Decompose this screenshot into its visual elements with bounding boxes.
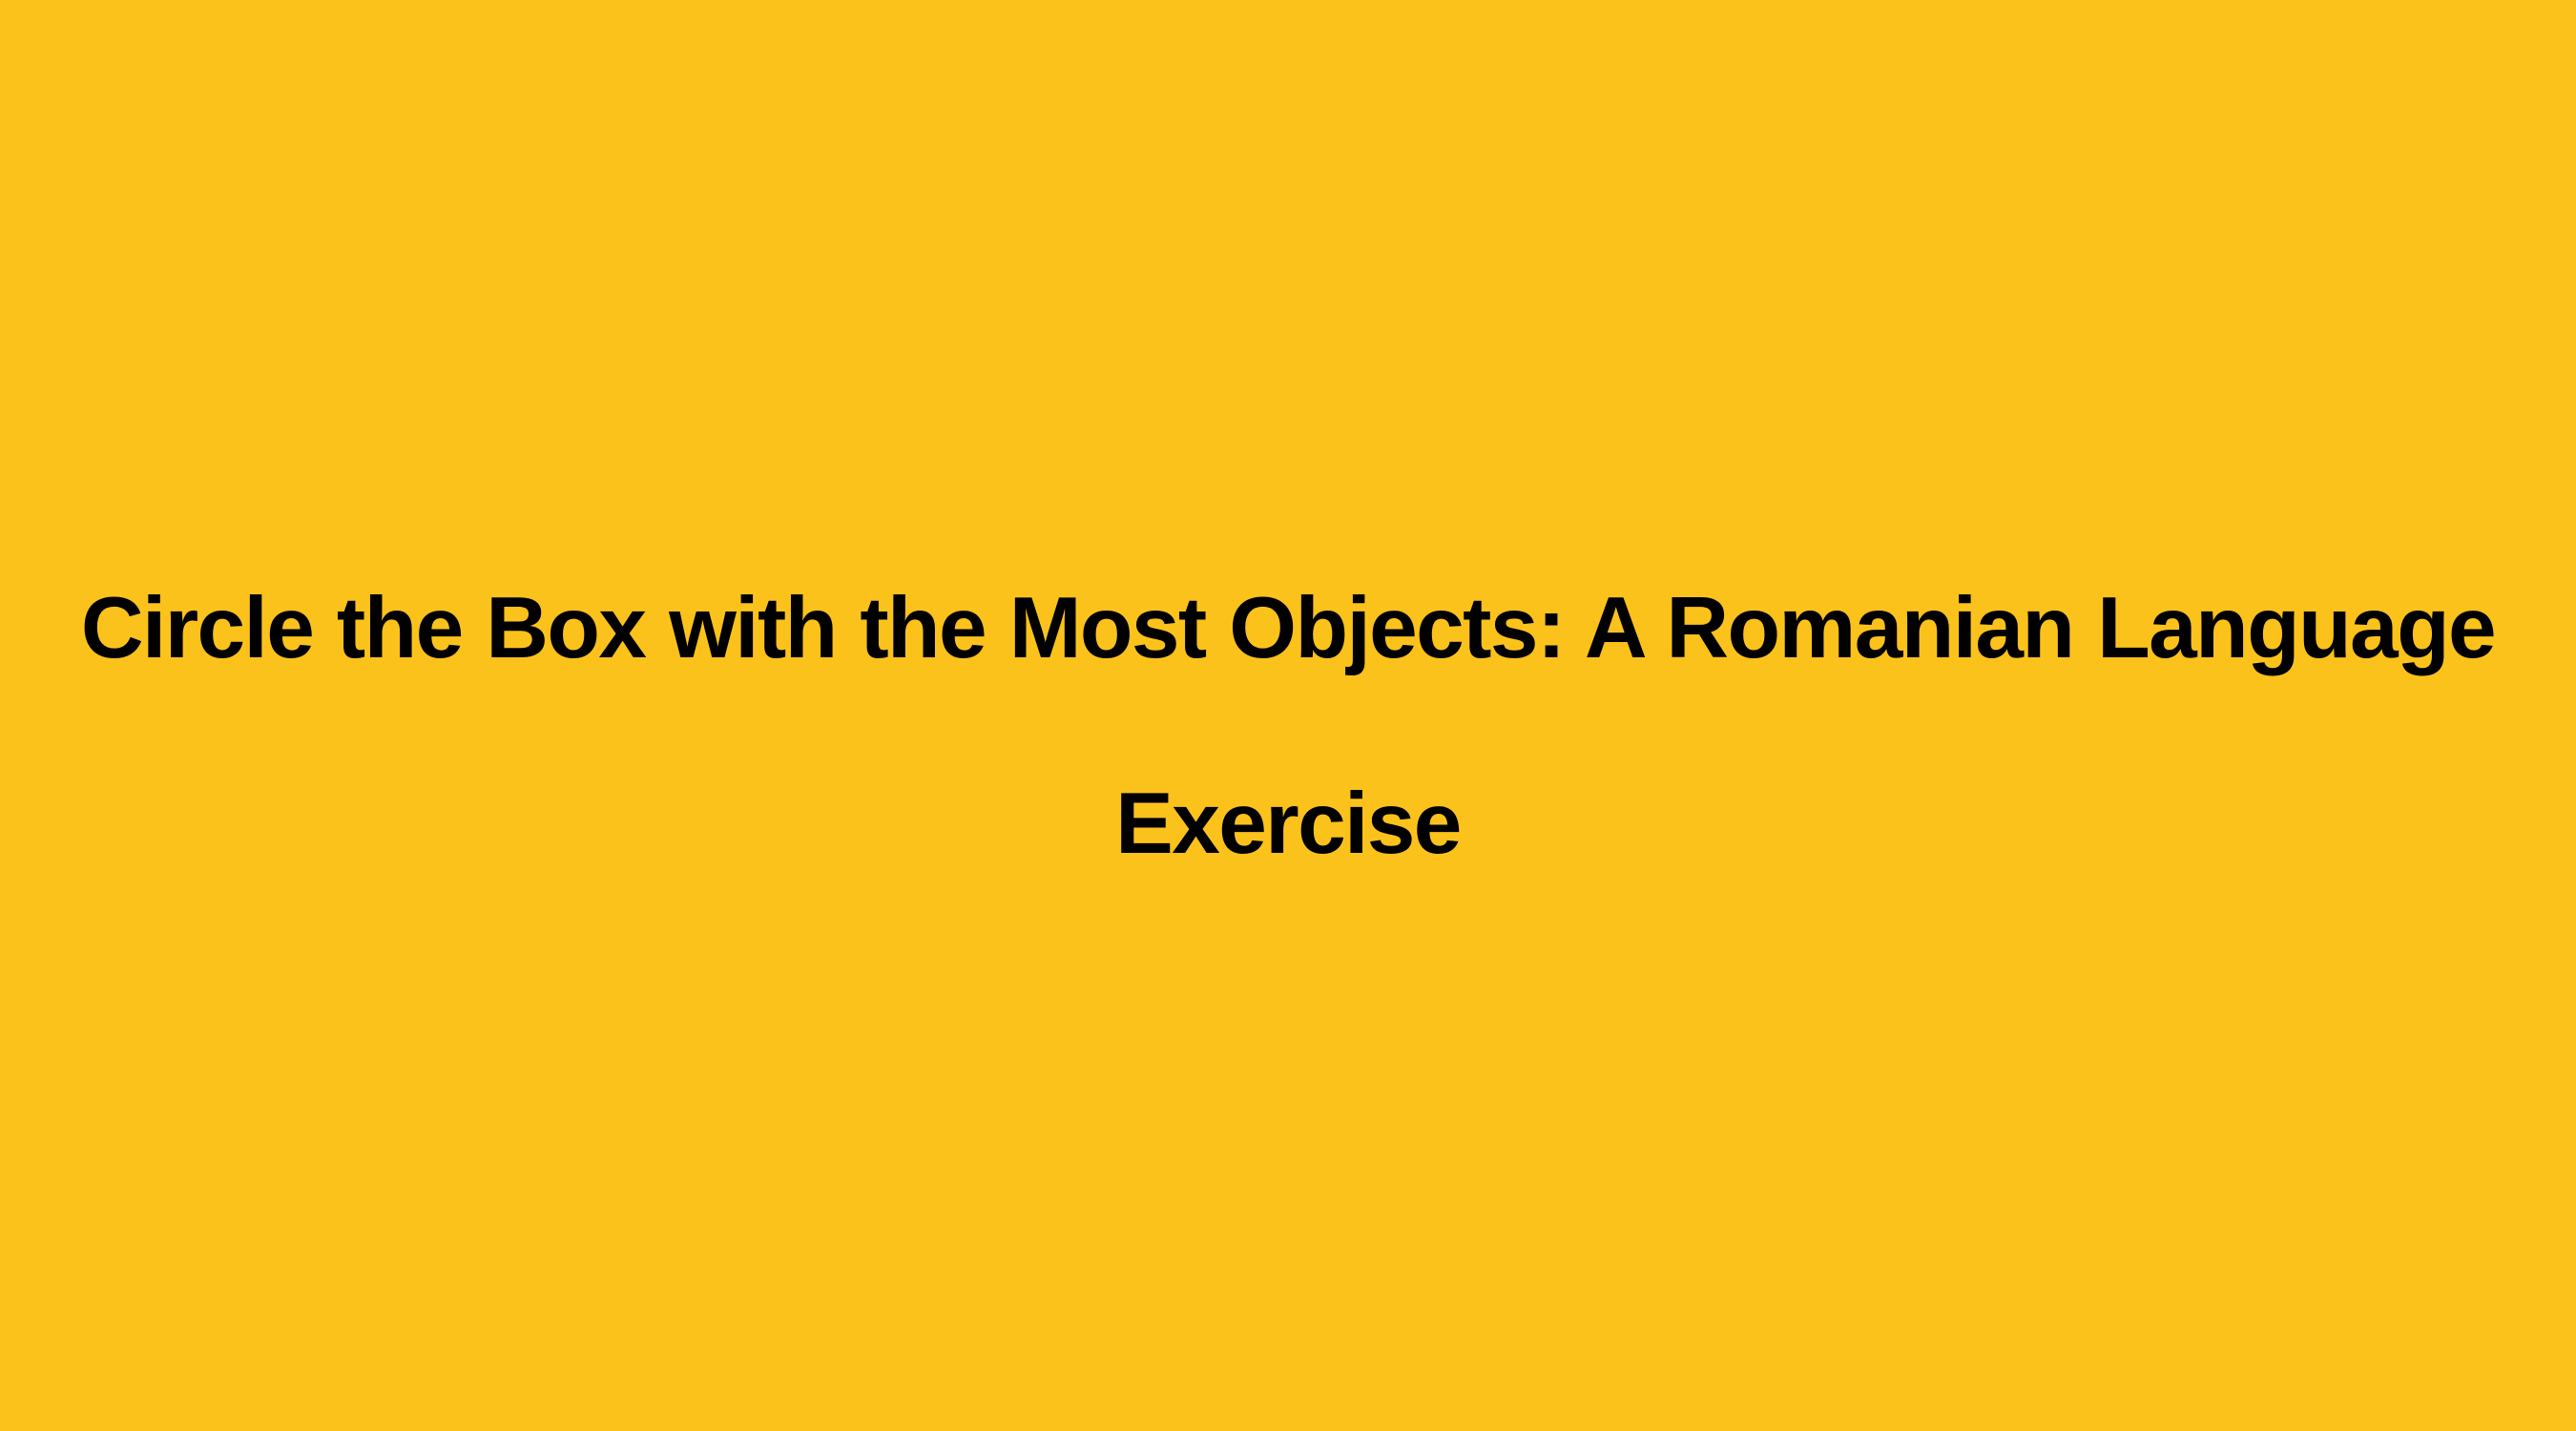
title-banner: Circle the Box with the Most Objects: A … <box>0 0 2576 1431</box>
heading-block: Circle the Box with the Most Objects: A … <box>0 530 2576 922</box>
page-title: Circle the Box with the Most Objects: A … <box>0 530 2576 922</box>
page-title-line-1: Circle the Box with the Most Objects: A … <box>81 580 2495 676</box>
page-title-line-2: Exercise <box>1115 776 1461 872</box>
